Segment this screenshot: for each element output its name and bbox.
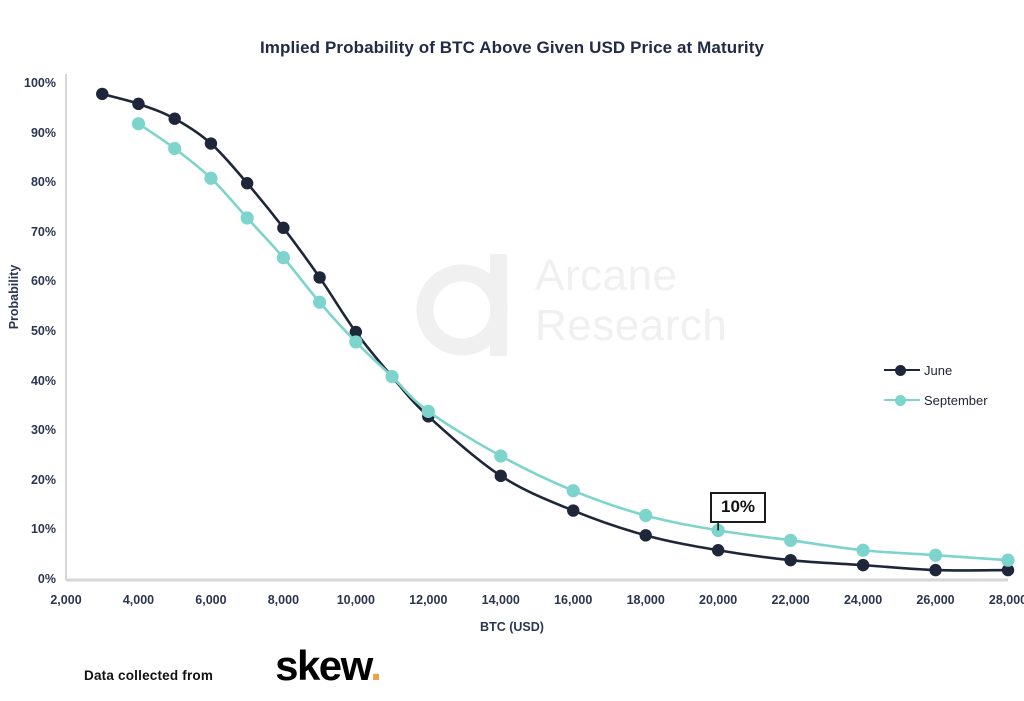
data-point [857,559,869,571]
data-point [132,98,144,110]
y-tick-label: 20% [10,473,56,487]
footer-credit: Data collected from skew. [84,645,380,687]
data-point [784,534,797,547]
x-axis-title: BTC (USD) [0,620,1024,634]
data-point [168,113,180,125]
data-point [567,484,580,497]
data-point [313,271,325,283]
skew-logo-word: skew [275,642,370,689]
y-tick-label: 70% [10,225,56,239]
data-point [639,509,652,522]
x-tick-label: 4,000 [103,593,173,607]
legend-label: September [924,393,988,408]
data-point [929,564,941,576]
y-axis-title: Probability [7,247,21,347]
data-point [96,88,108,100]
chart-legend: JuneSeptember [884,355,988,415]
y-tick-label: 30% [10,423,56,437]
x-tick-label: 22,000 [756,593,826,607]
legend-label: June [924,363,952,378]
x-tick-label: 18,000 [611,593,681,607]
data-point [1001,554,1014,567]
data-point [168,142,181,155]
data-point [204,172,217,185]
data-point [241,177,253,189]
y-tick-label: 80% [10,175,56,189]
y-tick-label: 40% [10,374,56,388]
data-point [712,544,724,556]
series-june [96,88,1014,577]
data-point [495,470,507,482]
legend-item-september[interactable]: September [884,385,988,415]
x-tick-label: 28,000 [973,593,1024,607]
skew-logo-dot: . [370,642,380,689]
y-tick-label: 100% [10,76,56,90]
skew-logo: skew. [275,645,380,687]
footer-credit-text: Data collected from [84,668,213,683]
data-point [639,529,651,541]
legend-marker-icon [884,393,920,407]
legend-item-june[interactable]: June [884,355,988,385]
data-point [856,544,869,557]
x-tick-label: 8,000 [248,593,318,607]
x-tick-label: 2,000 [31,593,101,607]
y-tick-label: 90% [10,126,56,140]
x-tick-label: 26,000 [901,593,971,607]
data-point [132,117,145,130]
legend-marker-icon [884,363,920,377]
data-point [784,554,796,566]
x-tick-label: 6,000 [176,593,246,607]
x-tick-label: 16,000 [538,593,608,607]
y-tick-label: 10% [10,522,56,536]
series-september [132,117,1015,567]
series-line-june [102,94,1008,571]
x-tick-label: 20,000 [683,593,753,607]
x-tick-label: 14,000 [466,593,536,607]
y-tick-label: 0% [10,572,56,586]
x-tick-label: 24,000 [828,593,898,607]
data-point [422,405,435,418]
data-point [205,137,217,149]
data-point [385,370,398,383]
data-point [313,296,326,309]
data-point [241,211,254,224]
data-point [349,335,362,348]
data-point [277,251,290,264]
x-tick-label: 10,000 [321,593,391,607]
annotation-10-percent: 10% [710,492,766,523]
x-tick-label: 12,000 [393,593,463,607]
data-point [929,549,942,562]
data-point [494,449,507,462]
data-point [277,222,289,234]
data-point [567,504,579,516]
chart-container: Implied Probability of BTC Above Given U… [0,0,1024,701]
